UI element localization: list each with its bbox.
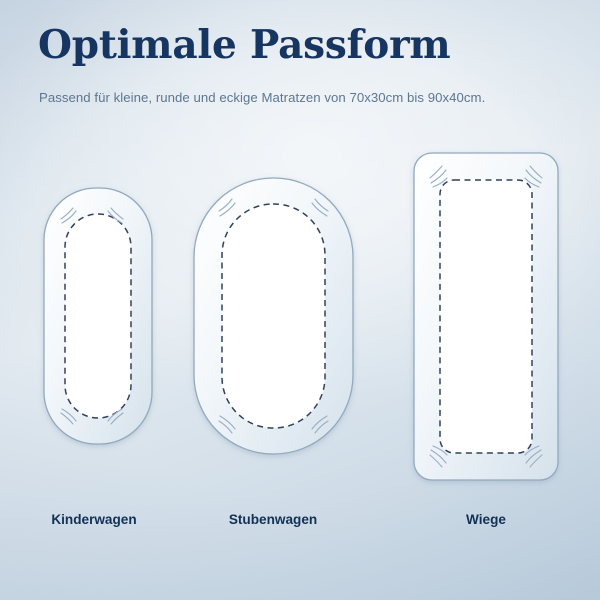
wiege-mattress-area	[440, 180, 532, 453]
figure-caption-wiege: Wiege	[416, 512, 556, 527]
sheet-diagrams	[0, 0, 600, 600]
kinderwagen-mattress-area	[65, 214, 131, 418]
figure-stubenwagen	[194, 178, 353, 454]
infographic-canvas: Optimale Passform Passend für kleine, ru…	[0, 0, 600, 600]
figure-wiege	[414, 153, 558, 480]
figure-caption-stubenwagen: Stubenwagen	[203, 512, 343, 527]
figure-caption-kinderwagen: Kinderwagen	[24, 512, 164, 527]
stubenwagen-mattress-area	[222, 204, 325, 428]
figure-kinderwagen	[44, 188, 152, 444]
infographic-content: Optimale Passform Passend für kleine, ru…	[0, 0, 600, 600]
figure-group	[0, 0, 600, 600]
